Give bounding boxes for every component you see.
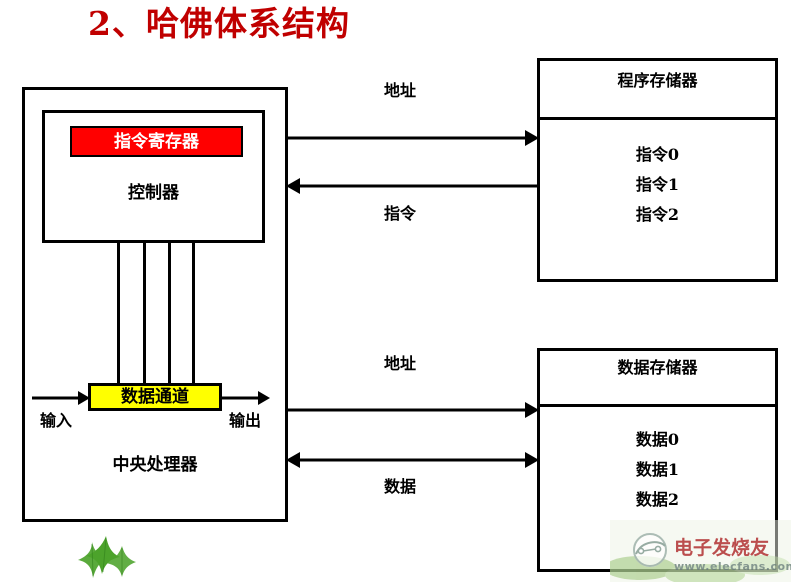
list-item: 指令2 bbox=[537, 200, 778, 230]
diagram-canvas: 2、哈佛体系结构 指令寄存器 控制器 数据通道 输入 输出 中央处理器 程序存储… bbox=[0, 0, 791, 582]
data-channel-box: 数据通道 bbox=[88, 383, 222, 411]
list-item: 指令1 bbox=[537, 170, 778, 200]
program-memory-title: 程序存储器 bbox=[537, 68, 778, 94]
watermark: 电子发烧友 www.elecfans.com bbox=[610, 520, 791, 582]
instruction-register-box: 指令寄存器 bbox=[70, 126, 243, 157]
cpu-internal-bus-line-2 bbox=[143, 243, 146, 384]
cpu-internal-bus-line-1 bbox=[117, 243, 120, 384]
data-memory-items: 数据0 数据1 数据2 bbox=[537, 425, 778, 515]
program-memory-divider bbox=[537, 117, 778, 120]
program-instruction-bus-arrow bbox=[286, 176, 539, 196]
watermark-url: www.elecfans.com bbox=[674, 560, 791, 573]
output-arrow bbox=[220, 388, 272, 408]
data-address-bus-arrow bbox=[286, 400, 539, 420]
program-address-bus-label: 地址 bbox=[340, 80, 460, 102]
data-address-bus-label: 地址 bbox=[340, 353, 460, 375]
list-item: 数据1 bbox=[537, 455, 778, 485]
program-instruction-bus-label: 指令 bbox=[340, 203, 460, 225]
controller-label: 控制器 bbox=[42, 180, 265, 206]
list-item: 指令0 bbox=[537, 140, 778, 170]
cpu-label: 中央处理器 bbox=[22, 452, 288, 478]
list-item: 数据0 bbox=[537, 425, 778, 455]
leaf-decoration-icon bbox=[72, 528, 144, 582]
output-label: 输出 bbox=[215, 410, 275, 432]
list-item: 数据2 bbox=[537, 485, 778, 515]
cpu-internal-bus-line-4 bbox=[192, 243, 195, 384]
watermark-logo-icon bbox=[633, 533, 667, 567]
program-memory-items: 指令0 指令1 指令2 bbox=[537, 140, 778, 230]
data-memory-title: 数据存储器 bbox=[537, 355, 778, 381]
watermark-brand: 电子发烧友 bbox=[674, 536, 769, 559]
page-title: 2、哈佛体系结构 bbox=[88, 2, 508, 46]
input-arrow bbox=[30, 388, 92, 408]
data-memory-divider bbox=[537, 404, 778, 407]
input-label: 输入 bbox=[26, 410, 86, 432]
data-bus-arrow bbox=[286, 450, 539, 470]
data-bus-label: 数据 bbox=[340, 476, 460, 498]
program-address-bus-arrow bbox=[286, 128, 539, 148]
cpu-internal-bus-line-3 bbox=[168, 243, 171, 384]
